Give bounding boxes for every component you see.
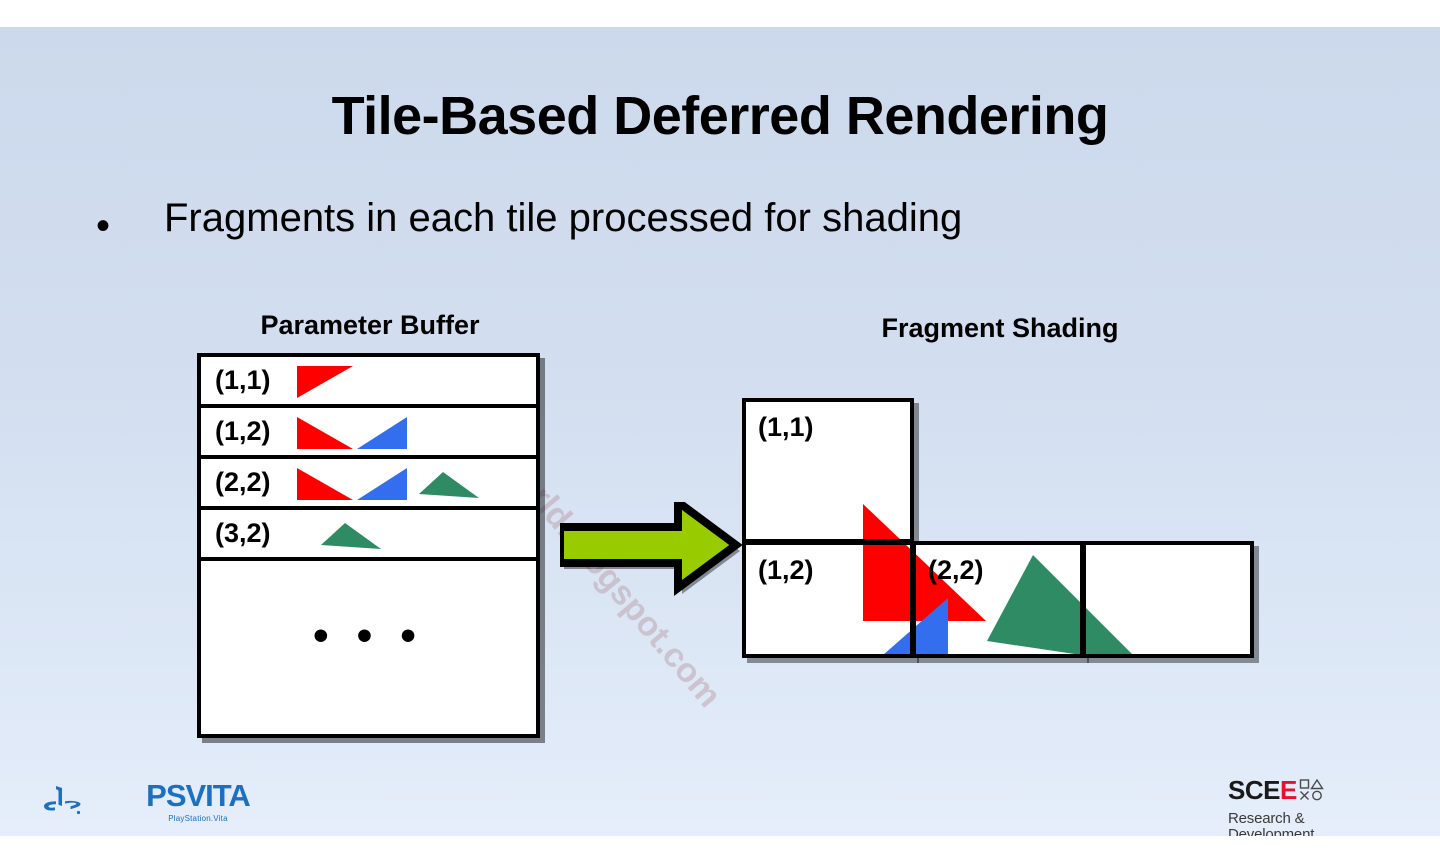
- fragment-shading-heading: Fragment Shading: [805, 313, 1195, 344]
- scee-last-letter: E: [1280, 777, 1297, 803]
- row-label: (1,1): [215, 365, 271, 396]
- row-fragments: [297, 459, 536, 506]
- table-row: (2,2): [201, 459, 536, 510]
- ps-vita-wordmark: PSVITA: [118, 779, 278, 813]
- scee-subtitle-line-2: Development: [1228, 827, 1378, 836]
- tile-3-2: [1082, 541, 1254, 658]
- slide-canvas: Tile-Based Deferred Rendering • Fragment…: [0, 27, 1440, 836]
- playstation-logo: [42, 784, 82, 816]
- table-row: (1,2): [201, 408, 536, 459]
- scee-letters: SCE: [1228, 777, 1280, 803]
- red-triangle-icon: [297, 417, 353, 449]
- red-triangle-icon: [297, 366, 353, 398]
- row-label: (1,2): [215, 416, 271, 447]
- tile-1-1: (1,1): [742, 398, 914, 543]
- table-empty-cell: • • •: [201, 561, 536, 729]
- shape-glyphs-icon: [1299, 778, 1325, 802]
- ellipsis-indicator: • • •: [201, 621, 536, 651]
- playstation-shape-glyphs: [1299, 778, 1325, 811]
- table-row: (3,2): [201, 510, 536, 561]
- blue-triangle-icon: [357, 417, 407, 449]
- green-triangle-icon: [419, 472, 479, 500]
- tile-2-2: (2,2): [912, 541, 1084, 658]
- row-label: (2,2): [215, 467, 271, 498]
- arrow-icon: [560, 502, 750, 602]
- scee-wordmark: SCE E: [1228, 777, 1378, 811]
- tile-label: (2,2): [928, 555, 984, 586]
- red-triangle-icon: [297, 468, 353, 500]
- bullet-marker-icon: •: [96, 216, 110, 236]
- table-row: (1,1): [201, 357, 536, 408]
- row-label: (3,2): [215, 518, 271, 549]
- fragment-shading-area: (1,1) (1,2) (2,2): [735, 372, 1265, 672]
- tile-label: (1,1): [758, 412, 814, 443]
- ps-vita-logo: PSVITA PlayStation.Vita: [118, 779, 278, 835]
- scee-subtitle-line-1: Research &: [1228, 811, 1378, 827]
- tile-1-2: (1,2): [742, 541, 914, 658]
- parameter-buffer-heading: Parameter Buffer: [175, 310, 565, 341]
- row-fragments: [297, 510, 536, 557]
- ps-vita-subtitle: PlayStation.Vita: [118, 813, 278, 825]
- bullet-row: • Fragments in each tile processed for s…: [96, 196, 1296, 256]
- green-triangle-icon: [321, 523, 381, 551]
- row-fragments: [297, 408, 536, 455]
- process-arrow: [560, 502, 750, 602]
- scee-logo: SCE E Research & Development: [1228, 777, 1378, 836]
- tile-geometry: [1082, 541, 1254, 658]
- tile-label: (1,2): [758, 555, 814, 586]
- row-fragments: [297, 357, 536, 404]
- parameter-buffer-table: (1,1) (1,2) (2,2): [197, 353, 540, 738]
- bullet-text: Fragments in each tile processed for sha…: [164, 196, 962, 241]
- page-title: Tile-Based Deferred Rendering: [0, 85, 1440, 147]
- playstation-logo-icon: [42, 784, 82, 816]
- blue-triangle-icon: [357, 468, 407, 500]
